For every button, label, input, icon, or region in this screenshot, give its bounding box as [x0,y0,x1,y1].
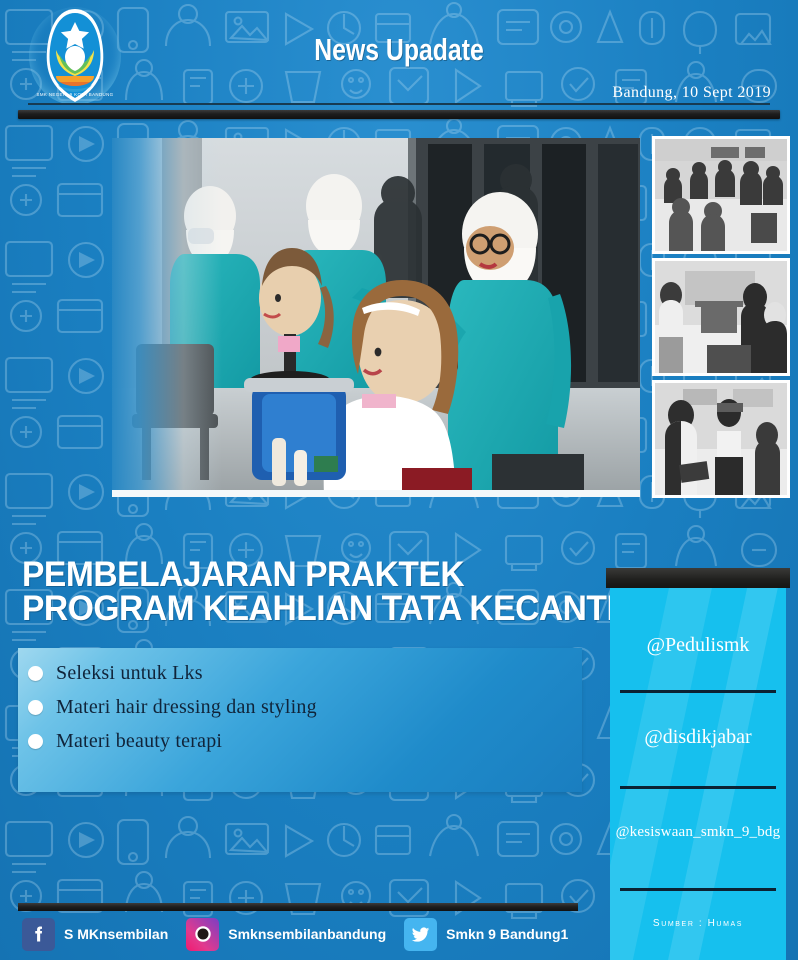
twitter-icon [404,918,437,951]
svg-text:SMK NEGERI 9 KOTA BANDUNG: SMK NEGERI 9 KOTA BANDUNG [36,92,113,97]
photo-left-fade [112,138,222,496]
bullet-text: Materi beauty terapi [56,730,222,753]
facebook-icon [22,918,55,951]
panel-divider-3 [620,888,776,891]
bullet-panel: Seleksi untuk Lks Materi hair dressing d… [18,648,582,792]
twitter-account-name: Smkn 9 Bandung1 [446,926,568,942]
handle-kesiswaan[interactable]: @kesiswaan_smkn_9_bdg [610,824,786,841]
bullet-dot-icon [28,666,43,681]
list-item: Materi hair dressing dan styling [28,696,582,719]
list-item: Materi beauty terapi [28,730,582,753]
facebook-account-name: S MKnsembilan [64,926,168,942]
bullet-dot-icon [28,734,43,749]
panel-body: @Pedulismk @disdikjabar @kesiswaan_smkn_… [610,588,786,960]
panel-divider-1 [620,690,776,693]
headline-block: PEMBELAJARAN PRAKTEK PROGRAM KEAHLIAN TA… [22,558,582,626]
source-credit: Sumber : Humas [610,918,786,929]
panel-top-bar [606,568,790,588]
thumbnail-column [652,136,790,502]
dateline: Bandung, 10 Sept 2019 [612,84,771,102]
header-divider-bar [18,110,780,119]
handle-pedulismk[interactable]: @Pedulismk [610,634,786,657]
poster-header: SMK NEGERI 9 KOTA BANDUNG News Upadate B… [0,0,798,112]
photo-bottom-edge [112,490,640,497]
thumbnail-3[interactable] [652,380,790,498]
panel-divider-2 [620,786,776,789]
footer-divider-bar [18,903,578,911]
thumbnail-2[interactable] [652,258,790,376]
main-photo [112,138,640,496]
thumbnail-1[interactable] [652,136,790,254]
bullet-text: Materi hair dressing dan styling [56,696,317,719]
list-item: Seleksi untuk Lks [28,662,582,685]
bullet-text: Seleksi untuk Lks [56,662,203,685]
social-handles-panel: @Pedulismk @disdikjabar @kesiswaan_smkn_… [606,568,790,960]
headline-line-2: PROGRAM KEAHLIAN TATA KECANTIKAN [22,592,560,626]
social-instagram[interactable]: Smknsembilanbandung [186,918,404,951]
news-poster: SMK NEGERI 9 KOTA BANDUNG News Upadate B… [0,0,798,960]
handle-disdikjabar[interactable]: @disdikjabar [610,726,786,749]
footer-social-bar: S MKnsembilan Smknsembilanbandung Smkn 9… [22,914,602,954]
headline-line-1: PEMBELAJARAN PRAKTEK [22,558,560,592]
instagram-icon [186,918,219,951]
social-twitter[interactable]: Smkn 9 Bandung1 [404,918,586,951]
bullet-dot-icon [28,700,43,715]
instagram-account-name: Smknsembilanbandung [228,926,386,942]
page-title: News Upadate [80,32,718,68]
social-facebook[interactable]: S MKnsembilan [22,918,186,951]
header-divider-thin [28,103,770,105]
bullet-list: Seleksi untuk Lks Materi hair dressing d… [18,648,582,753]
